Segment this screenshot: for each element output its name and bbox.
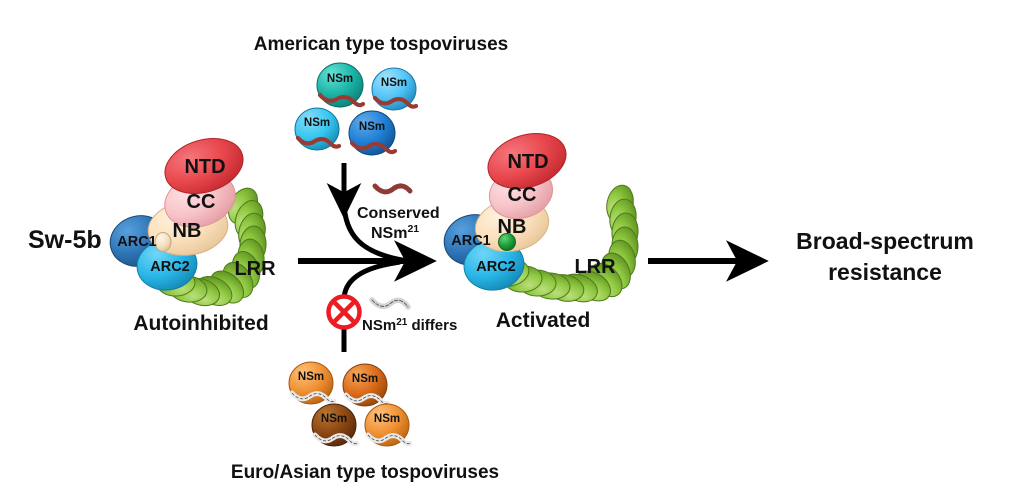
virus-particle-label: NSm	[298, 371, 324, 383]
ntd-label: NTD	[507, 151, 548, 173]
virus-particle-label: NSm	[359, 121, 385, 133]
arc1-label: ARC1	[117, 234, 156, 250]
bottom-pathway-title: Euro/Asian type tospoviruses	[231, 462, 499, 483]
virus-particle-label: NSm	[304, 117, 330, 129]
cc-label: CC	[508, 184, 537, 206]
virus-particle-label: NSm	[352, 373, 378, 385]
virus-particle-label: NSm	[321, 413, 347, 425]
figure-canvas: American type tospoviruses NSm NSm NSm N…	[0, 0, 1024, 499]
pathway-diagram: American type tospoviruses NSm NSm NSm N…	[0, 0, 1024, 499]
virus-particle-label: NSm	[381, 77, 407, 89]
outcome-line1: Broad-spectrum	[796, 228, 974, 254]
activated-caption: Activated	[496, 309, 591, 332]
nb-label: NB	[173, 220, 202, 242]
virus-particle-american-4: NSm	[349, 111, 395, 155]
autoinhibited-caption: Autoinhibited	[133, 312, 268, 335]
lrr-label: LRR	[574, 256, 616, 278]
nb-label: NB	[498, 216, 527, 238]
no-entry-cross-icon	[329, 297, 360, 328]
virus-particle-american-1: NSm	[317, 63, 363, 107]
virus-particle-euroasian-2: NSm	[343, 364, 389, 406]
arc2-label: ARC2	[476, 259, 515, 275]
virus-particle-american-2: NSm	[372, 68, 416, 110]
conserved-peptide-icon	[375, 186, 410, 192]
top-pathway-title: American type tospoviruses	[254, 34, 508, 55]
virus-particle-label: NSm	[374, 413, 400, 425]
virus-particle-euroasian-4: NSm	[365, 404, 411, 446]
sw5b-autoinhibited-structure: NTD CC NB ARC1 ARC2 LRR Autoinhibited	[105, 129, 276, 335]
receptor-name-label: Sw-5b	[28, 226, 102, 254]
conserved-label-line2: NSm21	[371, 223, 419, 242]
virus-particle-euroasian-3: NSm	[312, 404, 358, 446]
arc1-label: ARC1	[451, 233, 490, 249]
bottom-pathway-group: NSm21 differs NSm NSm NSm NSm Euro/A	[231, 262, 499, 483]
sw5b-activated-structure: NTD CC NB ARC1 ARC2 LRR Activated	[439, 124, 639, 332]
virus-particle-american-3: NSm	[295, 108, 339, 150]
outcome-line2: resistance	[828, 259, 942, 285]
lrr-label: LRR	[234, 258, 276, 280]
nsm-differs-label: NSm21 differs	[362, 317, 457, 335]
cc-label: CC	[187, 191, 216, 213]
virus-particle-euroasian-1: NSm	[289, 362, 335, 404]
ntd-label: NTD	[184, 156, 225, 178]
virus-particle-label: NSm	[327, 73, 353, 85]
arc2-label: ARC2	[150, 259, 189, 275]
conserved-label-line1: Conserved	[357, 205, 440, 222]
nucleotide-pocket-autoinhibited	[155, 233, 171, 252]
